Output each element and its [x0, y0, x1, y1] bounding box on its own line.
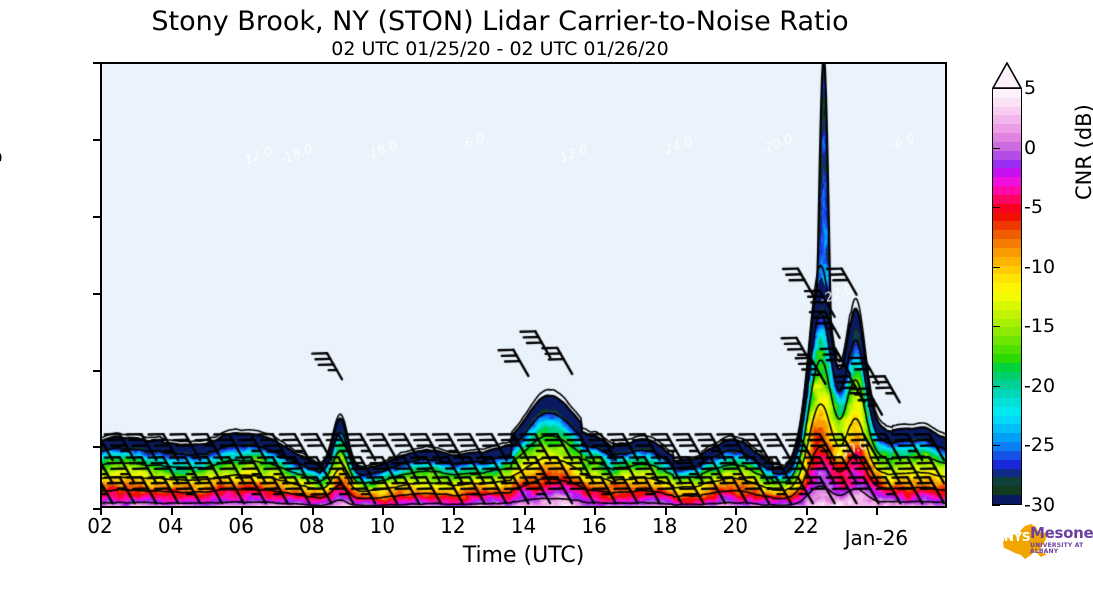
colorbar-tick-mark: [992, 207, 1000, 208]
x-axis-tick-mark: [876, 508, 878, 515]
colorbar-band: [993, 151, 1021, 160]
y-axis-tick-mark: [93, 293, 100, 295]
colorbar-band: [993, 283, 1021, 292]
colorbar-band: [993, 248, 1021, 257]
colorbar-tick-label: -30: [1024, 494, 1055, 516]
x-axis-label: Time (UTC): [100, 543, 947, 568]
y-axis-tick-mark: [93, 216, 100, 218]
colorbar-band: [993, 124, 1021, 133]
x-axis-tick-label: 12: [440, 514, 465, 538]
x-axis-tick-mark: [594, 508, 596, 515]
y-axis-label: Height (km): [0, 69, 3, 200]
x-axis-tick-label: 06: [228, 514, 253, 538]
colorbar-band: [993, 469, 1021, 478]
colorbar-band: [993, 416, 1021, 425]
logo-text: Mesonet UNIVERSITY AT ALBANY: [1030, 525, 1093, 555]
colorbar-band: [993, 398, 1021, 407]
colorbar-tick-label: 5: [1024, 77, 1036, 99]
logo-university-text: UNIVERSITY AT ALBANY: [1030, 543, 1093, 555]
colorbar-band: [993, 363, 1021, 372]
colorbar-band: [993, 301, 1021, 310]
x-axis-tick-label: 14: [511, 514, 536, 538]
colorbar-band: [993, 142, 1021, 151]
colorbar-band: [993, 486, 1021, 495]
colorbar-band: [993, 433, 1021, 442]
x-axis-tick-mark: [524, 508, 526, 515]
colorbar-band: [993, 160, 1021, 169]
colorbar-band: [993, 372, 1021, 381]
colorbar-band: [993, 327, 1021, 336]
colorbar: [992, 62, 1022, 505]
colorbar-tick-label: -5: [1024, 196, 1043, 218]
colorbar-gradient: [992, 88, 1022, 505]
x-axis-tick-label: 02: [87, 514, 112, 538]
colorbar-tick-mark: [992, 386, 1000, 387]
colorbar-tick-mark: [992, 88, 1000, 89]
colorbar-band: [993, 345, 1021, 354]
colorbar-band: [993, 168, 1021, 177]
x-axis-tick-mark: [100, 508, 102, 515]
colorbar-tick-mark: [992, 326, 1000, 327]
colorbar-band: [993, 107, 1021, 116]
x-axis-tick-label: 16: [581, 514, 606, 538]
colorbar-band: [993, 98, 1021, 107]
colorbar-band: [993, 195, 1021, 204]
y-axis-tick-mark: [93, 508, 100, 510]
x-axis-tick-label: 08: [299, 514, 324, 538]
colorbar-band: [993, 389, 1021, 398]
colorbar-band: [993, 310, 1021, 319]
colorbar-tick-mark: [992, 267, 1000, 268]
cnr-heatmap-field: [102, 64, 947, 508]
colorbar-band: [993, 407, 1021, 416]
colorbar-band: [993, 292, 1021, 301]
y-axis-tick-mark: [93, 370, 100, 372]
x-axis-tick-mark: [382, 508, 384, 515]
y-axis-tick-mark: [93, 139, 100, 141]
x-axis-tick-mark: [312, 508, 314, 515]
colorbar-tick-label: -10: [1024, 256, 1055, 278]
x-axis-tick-mark: [453, 508, 455, 515]
x-axis-tick-label: 22: [793, 514, 818, 538]
colorbar-band: [993, 221, 1021, 230]
y-axis-tick-mark: [93, 446, 100, 448]
colorbar-band: [993, 115, 1021, 124]
colorbar-tick-label: -25: [1024, 434, 1055, 456]
plot-area: [100, 62, 947, 508]
colorbar-band: [993, 89, 1021, 98]
colorbar-band: [993, 213, 1021, 222]
colorbar-band: [993, 495, 1021, 504]
colorbar-band: [993, 354, 1021, 363]
x-axis-tick-mark: [241, 508, 243, 515]
colorbar-band: [993, 380, 1021, 389]
colorbar-band: [993, 204, 1021, 213]
x-axis-tick-mark: [665, 508, 667, 515]
colorbar-band: [993, 257, 1021, 266]
colorbar-band: [993, 177, 1021, 186]
colorbar-tick-mark: [992, 148, 1000, 149]
colorbar-band: [993, 239, 1021, 248]
page-title: Stony Brook, NY (STON) Lidar Carrier-to-…: [0, 6, 1000, 37]
colorbar-band: [993, 477, 1021, 486]
colorbar-tick-mark: [992, 505, 1000, 506]
logo-mesonet-text: Mesonet: [1030, 524, 1093, 542]
y-axis-tick-mark: [93, 62, 100, 64]
colorbar-band: [993, 451, 1021, 460]
colorbar-label: CNR (dB): [1072, 104, 1093, 200]
colorbar-band: [993, 336, 1021, 345]
colorbar-tick-label: 0: [1024, 137, 1036, 159]
x-axis-tick-mark: [806, 508, 808, 515]
x-axis-tick-label: 18: [652, 514, 677, 538]
x-axis-tick-mark: [735, 508, 737, 515]
page-subtitle: 02 UTC 01/25/20 - 02 UTC 01/26/20: [0, 38, 1000, 60]
colorbar-tick-mark: [992, 445, 1000, 446]
colorbar-tick-label: -20: [1024, 375, 1055, 397]
x-axis-tick-label: 04: [158, 514, 183, 538]
x-axis-tick-mark: [171, 508, 173, 515]
x-axis-tick-label: 20: [723, 514, 748, 538]
colorbar-band: [993, 442, 1021, 451]
colorbar-band: [993, 274, 1021, 283]
colorbar-tick-label: -15: [1024, 315, 1055, 337]
colorbar-band: [993, 186, 1021, 195]
x-axis-tick-label: 10: [370, 514, 395, 538]
colorbar-band: [993, 424, 1021, 433]
colorbar-extend-arrow-icon: [992, 62, 1022, 89]
colorbar-band: [993, 460, 1021, 469]
colorbar-band: [993, 230, 1021, 239]
logo-nys-text: NYS: [1004, 530, 1030, 544]
colorbar-band: [993, 133, 1021, 142]
